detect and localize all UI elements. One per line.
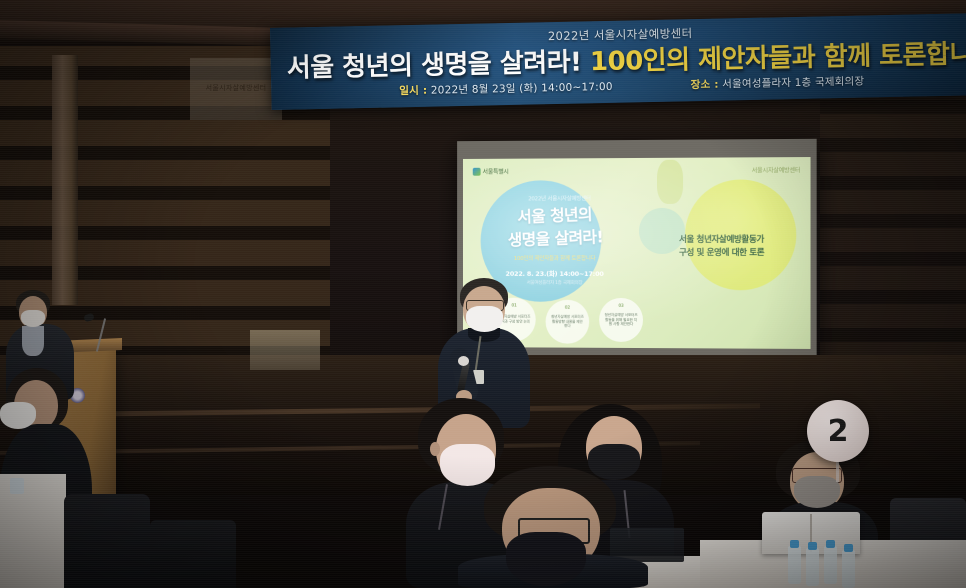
slide-bubble-text: 청년자살예방 서포터즈 활동을 위해 필요한 지원 사항 제안한다 [604,313,638,328]
banner-place-value: 서울여성플라자 1층 국제회의장 [719,76,865,91]
banner-headline-white: 서울 청년의 생명을 살려라! [287,47,591,83]
center-logo: 서울시자살예방센터 [752,165,801,174]
banner-headline-yellow: 100인의 제안자들과 함께 토론합니다 [590,39,966,78]
banner-date: 일시 : 2022년 8월 23일 (화) 14:00~17:00 [399,79,613,98]
slide-bubble-number: 03 [599,303,643,309]
foreground-man-bending [458,466,648,588]
slide-bubble: 02 청년자살예방 서포터즈 활동방향 내용을 제안한다 [546,300,590,344]
banner-date-value: 2022년 8월 23일 (화) 14:00~17:00 [427,81,613,97]
slide-topic-line1: 서울 청년자살예방활동가 [679,234,798,247]
microphone-head [458,356,469,366]
slide-bubble-text: 청년자살예방 서포터즈 활동방향 내용을 제안한다 [551,314,585,329]
slide-title: 서울 청년의 생명을 살려라! [488,202,623,253]
slide-lime-accent [657,160,683,204]
bottle-cap [790,540,799,548]
water-bottle [806,548,819,586]
table-number-sign: 2 [807,400,869,462]
seoul-logo-text: 서울특별시 [483,167,509,176]
bottle-cap [808,542,817,550]
slide-subtitle: 100인의 제안자들과 함께 토론합니다 [492,254,617,262]
slide-topic-text: 서울 청년자살예방활동가 구성 및 운영에 대한 토론 [679,234,798,261]
wall-pillar [52,55,78,305]
shirt [22,326,44,356]
water-bottle [824,546,837,584]
slide-bubble: 03 청년자살예방 서포터즈 활동을 위해 필요한 지원 사항 제안한다 [599,298,643,342]
ear [430,442,440,456]
chair [150,520,236,588]
slide-title-line2: 생명을 살려라! [489,225,623,253]
slide-bubble-number: 02 [546,305,590,311]
banner-place-label: 장소 : [691,79,719,92]
chair [64,494,150,588]
face-mask-icon [466,306,503,332]
slide-topic-line2: 구성 및 운영에 대한 토론 [679,247,798,260]
cup [10,478,24,494]
banner-place: 장소 : 서울여성플라자 1층 국제회의장 [691,74,865,93]
slide-organizer-line: 2022년 서울시자살예방센터 [500,194,619,202]
bottle-cap [826,540,835,548]
face-mask-icon [0,402,36,429]
event-banner: 2022년 서울시자살예방센터 서울 청년의 생명을 살려라! 100인의 제안… [270,13,966,110]
face-mask-icon [21,310,45,327]
seoul-city-logo: 서울특별시 [473,167,509,176]
wall-sign: 서울시자살예방센터 [190,58,282,120]
water-bottle [788,546,801,584]
face-mask-icon [794,476,840,508]
face-mask-icon [506,532,586,586]
banner-date-label: 일시 : [399,85,427,98]
water-bottle [842,550,855,588]
seoul-logo-mark [473,167,481,175]
bottle-cap [844,544,853,552]
conference-photo: 서울시자살예방센터 2022년 서울시자살예방센터 서울 청년의 생명을 살려라… [0,0,966,588]
slide-date: 2022. 8. 23.(화) 14:00~17:00 [492,268,617,278]
stage-back-opening [250,330,320,370]
